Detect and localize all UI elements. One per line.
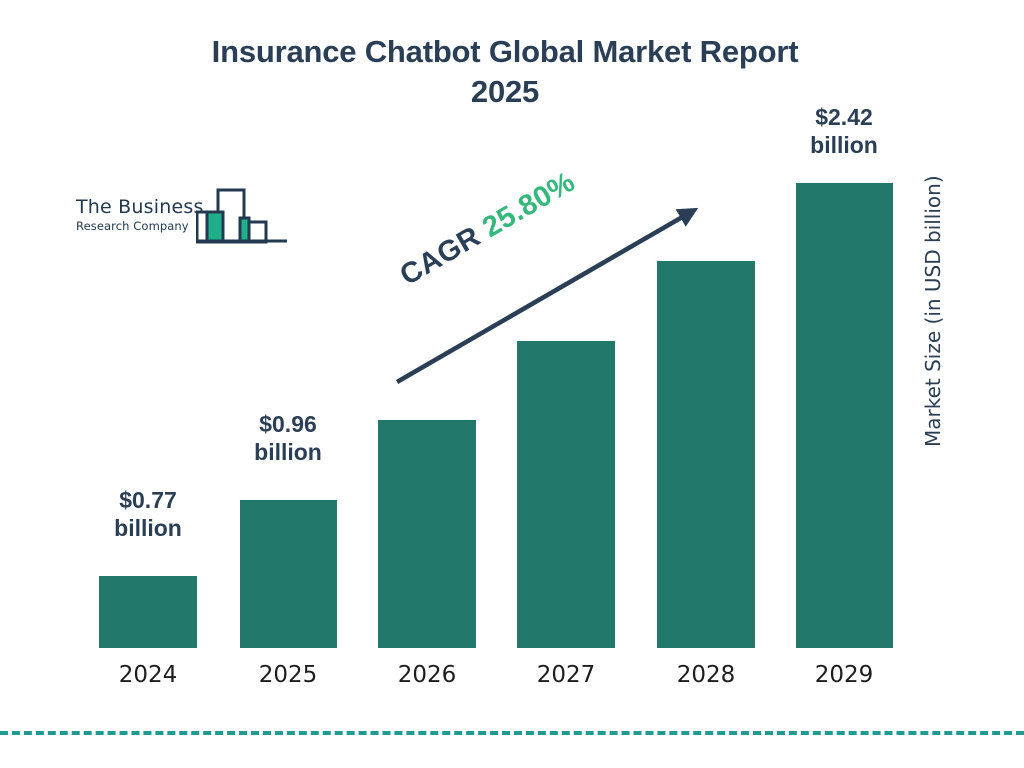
bar-2025[interactable]	[240, 500, 337, 648]
y-axis-title: Market Size (in USD billion)	[921, 237, 945, 447]
bar-2024[interactable]	[99, 576, 197, 648]
cagr-label: CAGR	[395, 221, 486, 292]
bar-value-label-2024-line-2: billion	[88, 515, 208, 543]
x-tick-label-2028: 2028	[646, 662, 766, 688]
bar-2027[interactable]	[517, 341, 615, 648]
bar-value-label-2029: $2.42 billion	[784, 104, 904, 159]
bar-value-label-2025: $0.96 billion	[228, 411, 348, 466]
bar-value-label-2025-line-2: billion	[228, 439, 348, 467]
x-tick-label-2029: 2029	[784, 662, 904, 688]
cagr-value: 25.80%	[477, 166, 580, 244]
bar-value-label-2024-line-1: $0.77	[88, 487, 208, 515]
bar-value-label-2024: $0.77 billion	[88, 487, 208, 542]
x-tick-label-2026: 2026	[367, 662, 487, 688]
x-tick-label-2024: 2024	[88, 662, 208, 688]
footer-divider	[0, 731, 1024, 735]
plot-area: $0.77 billion $0.96 billion $2.42 billio…	[0, 0, 1024, 768]
x-tick-label-2025: 2025	[228, 662, 348, 688]
chart-canvas: Insurance Chatbot Global Market Report 2…	[0, 0, 1024, 768]
x-tick-label-2027: 2027	[506, 662, 626, 688]
bar-value-label-2029-line-1: $2.42	[784, 104, 904, 132]
cagr-annotation: CAGR 25.80%	[395, 166, 581, 293]
bar-2028[interactable]	[657, 261, 755, 648]
bar-2026[interactable]	[378, 420, 476, 648]
bar-2029[interactable]	[796, 183, 893, 648]
bar-value-label-2025-line-1: $0.96	[228, 411, 348, 439]
bar-value-label-2029-line-2: billion	[784, 132, 904, 160]
